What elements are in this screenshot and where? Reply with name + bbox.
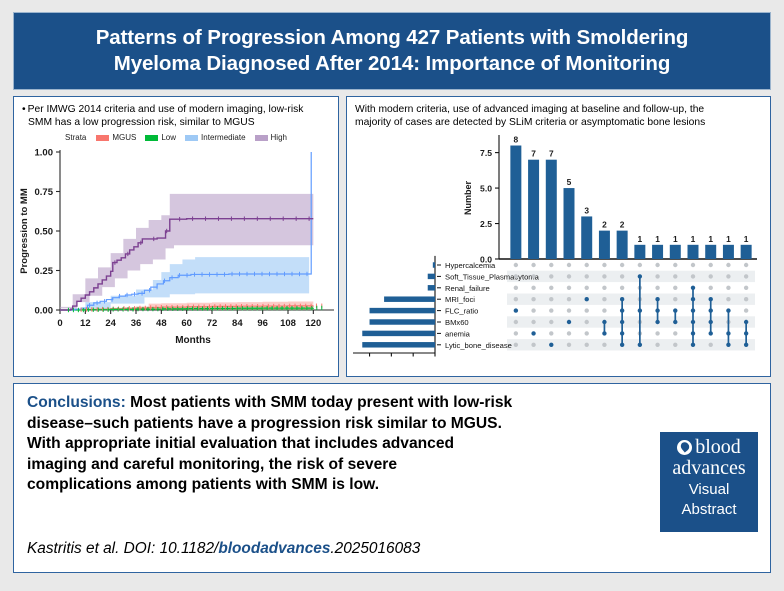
conclusions-line-2: disease–such patients have a progression… (27, 415, 502, 432)
conclusions-line-4: imaging and careful monitoring, the risk… (27, 456, 397, 473)
km-plot-svg: 0.000.250.500.751.0001224364860728496108… (14, 142, 338, 364)
legend-item-low: Low (145, 133, 176, 142)
svg-text:0.00: 0.00 (35, 306, 54, 317)
blood-advances-logo: blood advances Visual Abstract (660, 432, 758, 532)
svg-text:60: 60 (181, 318, 192, 329)
svg-text:2.5: 2.5 (480, 219, 492, 229)
svg-text:120: 120 (305, 318, 321, 329)
legend-swatch-intermediate (185, 135, 198, 141)
svg-text:108: 108 (280, 318, 296, 329)
legend-label-intermediate: Intermediate (201, 133, 245, 142)
logo-advances-text: advances (660, 458, 758, 479)
legend-item-high: High (255, 133, 287, 142)
title-line-1: Patterns of Progression Among 427 Patien… (96, 26, 689, 49)
svg-text:1: 1 (655, 234, 660, 244)
svg-text:Hypercalcemia: Hypercalcemia (445, 261, 496, 270)
svg-text:24: 24 (105, 318, 116, 329)
svg-text:0: 0 (433, 358, 438, 359)
right-panel-caption: With modern criteria, use of advanced im… (347, 97, 770, 129)
svg-text:48: 48 (156, 318, 167, 329)
visual-abstract-page: Patterns of Progression Among 427 Patien… (0, 0, 784, 591)
legend-label-high: High (271, 133, 287, 142)
conclusions-label: Conclusions: (27, 394, 126, 411)
svg-text:36: 36 (131, 318, 142, 329)
svg-text:FLC_ratio: FLC_ratio (445, 307, 478, 316)
conclusions-line-1: Most patients with SMM today present wit… (126, 394, 512, 411)
svg-text:1: 1 (708, 234, 713, 244)
svg-text:1: 1 (726, 234, 731, 244)
svg-text:Soft_Tissue_Plasmacytoma: Soft_Tissue_Plasmacytoma (445, 273, 540, 282)
logo-visual-text: Visual (660, 482, 758, 499)
svg-text:1: 1 (691, 234, 696, 244)
svg-text:8: 8 (514, 135, 519, 145)
left-caption-line-2: SMM has a low progression risk, similar … (22, 116, 331, 129)
svg-text:1: 1 (673, 234, 678, 244)
svg-text:0.50: 0.50 (35, 227, 54, 238)
svg-text:9: 9 (367, 358, 372, 359)
title-line-2: Myeloma Diagnosed After 2014: Importance… (114, 52, 671, 75)
svg-text:anemia: anemia (445, 330, 471, 339)
legend-item-intermediate: Intermediate (185, 133, 245, 142)
svg-text:MRI_foci: MRI_foci (445, 296, 475, 305)
svg-text:2: 2 (620, 220, 625, 230)
svg-text:3: 3 (411, 358, 416, 359)
logo-top-row: blood (660, 437, 758, 457)
conclusions-line-5: complications among patients with SMM is… (27, 476, 379, 493)
left-caption-line-1: Per IMWG 2014 criteria and use of modern… (28, 104, 304, 115)
svg-text:12: 12 (80, 318, 91, 329)
header-banner: Patterns of Progression Among 427 Patien… (13, 12, 771, 90)
svg-text:5: 5 (567, 177, 572, 187)
charts-row: •Per IMWG 2014 criteria and use of moder… (13, 96, 771, 377)
svg-text:Number: Number (463, 181, 473, 216)
svg-text:5.0: 5.0 (480, 184, 492, 194)
upset-plot-svg: 0.02.55.07.5Number87753221111111Hypercal… (347, 129, 767, 359)
right-chart-panel: With modern criteria, use of advanced im… (346, 96, 771, 377)
blood-drop-icon (677, 440, 692, 455)
svg-text:Lytic_bone_disease: Lytic_bone_disease (445, 341, 512, 350)
svg-text:84: 84 (232, 318, 243, 329)
citation-prefix: Kastritis et al. DOI: 10.1182/ (27, 540, 218, 557)
svg-text:3: 3 (584, 206, 589, 216)
km-chart: 0.000.250.500.751.0001224364860728496108… (14, 142, 338, 368)
conclusions-panel: Conclusions: Most patients with SMM toda… (13, 383, 771, 573)
svg-text:96: 96 (257, 318, 268, 329)
conclusions-text: Conclusions: Most patients with SMM toda… (27, 393, 667, 496)
svg-text:1: 1 (638, 234, 643, 244)
svg-text:Renal_failure: Renal_failure (445, 284, 490, 293)
legend-swatch-high (255, 135, 268, 141)
legend-label-mgus: MGUS (112, 133, 136, 142)
upset-chart: 0.02.55.07.5Number87753221111111Hypercal… (347, 129, 770, 347)
svg-text:Progression to MM: Progression to MM (19, 189, 30, 275)
legend-title: Strata (65, 133, 86, 142)
svg-text:0.25: 0.25 (35, 266, 54, 277)
svg-text:1.00: 1.00 (35, 148, 54, 159)
svg-text:1: 1 (744, 234, 749, 244)
page-title: Patterns of Progression Among 427 Patien… (78, 25, 707, 76)
km-legend: Strata MGUS Low Intermediate High (14, 133, 338, 142)
svg-text:2: 2 (602, 220, 607, 230)
right-caption-line-2: majority of cases are detected by SLiM c… (355, 117, 705, 128)
legend-swatch-mgus (96, 135, 109, 141)
legend-label-low: Low (161, 133, 176, 142)
bullet-glyph: • (22, 104, 26, 115)
citation-brand: bloodadvances (218, 540, 330, 557)
svg-text:7.5: 7.5 (480, 148, 492, 158)
legend-item-mgus: MGUS (96, 133, 136, 142)
left-panel-caption: •Per IMWG 2014 criteria and use of moder… (14, 97, 338, 129)
svg-text:6: 6 (389, 358, 394, 359)
svg-text:BMx60: BMx60 (445, 318, 469, 327)
svg-text:7: 7 (549, 149, 554, 159)
svg-text:Months: Months (175, 335, 211, 346)
citation: Kastritis et al. DOI: 10.1182/bloodadvan… (27, 540, 420, 558)
logo-abstract-text: Abstract (660, 502, 758, 519)
svg-text:72: 72 (207, 318, 218, 329)
svg-text:0: 0 (57, 318, 62, 329)
legend-swatch-low (145, 135, 158, 141)
citation-suffix: .2025016083 (330, 540, 420, 557)
svg-text:0.75: 0.75 (35, 187, 54, 198)
logo-blood-text: blood (695, 437, 741, 457)
left-chart-panel: •Per IMWG 2014 criteria and use of moder… (13, 96, 339, 377)
right-caption-line-1: With modern criteria, use of advanced im… (355, 104, 704, 115)
svg-text:7: 7 (531, 149, 536, 159)
conclusions-line-3: With appropriate initial evaluation that… (27, 435, 454, 452)
